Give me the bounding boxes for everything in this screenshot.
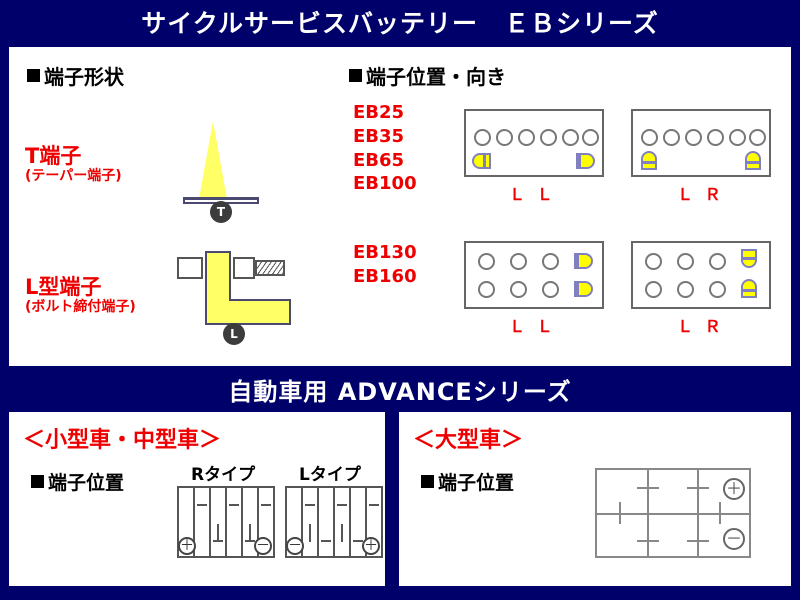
terminal-bar <box>576 253 579 269</box>
cell-tick <box>337 504 347 506</box>
terminal-shape-heading: 端子形状 <box>27 61 124 90</box>
cell-cap <box>542 253 559 270</box>
terminal-shape-column: 端子形状 T端子 (テーパー端子) T <box>9 47 339 366</box>
cell-tick <box>197 504 207 506</box>
l-type-label: Lタイプ <box>299 460 361 485</box>
large-car-heading-text: 端子位置 <box>438 468 514 495</box>
cell-cap <box>685 129 702 146</box>
bullet-square-icon <box>27 69 40 82</box>
t-terminal-text: T端子 (テーパー端子) <box>25 144 175 185</box>
model-label: EB65 <box>353 149 417 173</box>
battery-diagram-large-car: ＋ － <box>595 468 751 558</box>
terminal-negative: － <box>723 528 745 550</box>
cell-tick <box>229 504 239 506</box>
cell-cap <box>582 129 599 146</box>
small-mid-car-panel: ＜小型車・中型車＞ 端子位置 Rタイプ ＋ － <box>6 409 388 589</box>
terminal-positive: ＋ <box>178 537 196 555</box>
t-terminal-row: T端子 (テーパー端子) T <box>25 109 285 219</box>
cell-cap <box>709 253 726 270</box>
terminal-bar <box>641 161 657 164</box>
small-mid-car-title: ＜小型車・中型車＞ <box>23 422 221 454</box>
cell-tick <box>321 540 331 542</box>
t-terminal-badge: T <box>210 201 232 223</box>
poster-root: サイクルサービスバッテリー ＥＢシリーズ 端子形状 T端子 (テーパー端子) <box>0 0 800 600</box>
cell-cap <box>496 129 513 146</box>
terminal-bar <box>741 289 757 292</box>
cell-cap <box>663 129 680 146</box>
cell-cap <box>510 253 527 270</box>
terminal-bar <box>576 281 579 297</box>
battery-diagram-eb130-ll <box>464 241 604 309</box>
cell-cap <box>510 281 527 298</box>
diagram-label-lr: Ｌ Ｒ <box>677 313 724 337</box>
cell-tick <box>687 487 709 489</box>
terminal-bar <box>741 257 757 260</box>
cell-tick <box>309 524 311 542</box>
t-terminal-title: T端子 <box>25 144 175 168</box>
cell-cap <box>645 281 662 298</box>
battery-diagram-eb25-ll <box>464 109 604 177</box>
terminal-position-heading-text: 端子位置・向き <box>366 61 506 90</box>
advance-title: 自動車用 ADVANCEシリーズ <box>228 372 571 407</box>
cell-cap <box>677 281 694 298</box>
cell-divider <box>349 488 351 556</box>
l-terminal-subtitle: (ボルト締付端子) <box>25 299 175 316</box>
battery-diagram-eb25-lr <box>631 109 771 177</box>
terminal-position-column: 端子位置・向き EB25 EB35 EB65 EB100 <box>339 47 791 366</box>
cell-cap <box>562 129 579 146</box>
r-type-label: Rタイプ <box>191 460 255 485</box>
battery-diagram-eb130-lr <box>631 241 771 309</box>
cell-cap <box>540 129 557 146</box>
cell-cap <box>474 129 491 146</box>
terminal-left-facing <box>472 153 491 169</box>
model-label: EB25 <box>353 101 417 125</box>
t-terminal-subtitle: (テーパー端子) <box>25 168 175 185</box>
l-terminal-illustration: L <box>175 243 295 348</box>
cell-tick <box>305 504 315 506</box>
cell-tick <box>369 504 379 506</box>
terminal-negative: － <box>286 537 304 555</box>
advance-panels-row: ＜小型車・中型車＞ 端子位置 Rタイプ ＋ － <box>6 409 794 589</box>
cell-cap <box>749 129 766 146</box>
cell-tick <box>637 487 659 489</box>
cell-cap <box>707 129 724 146</box>
terminal-positive: ＋ <box>723 478 745 500</box>
cell-cap <box>729 129 746 146</box>
terminal-bar <box>578 153 581 169</box>
cell-cap <box>677 253 694 270</box>
cell-tick <box>249 524 251 542</box>
diagram-label-ll: Ｌ Ｌ <box>509 313 556 337</box>
terminal-position-heading: 端子位置・向き <box>349 61 506 90</box>
eb-series-panel: 端子形状 T端子 (テーパー端子) T <box>6 44 794 369</box>
page-title: サイクルサービスバッテリー ＥＢシリーズ <box>141 4 659 40</box>
model-label: EB160 <box>353 265 417 289</box>
cell-tick <box>687 540 709 542</box>
terminal-negative: － <box>254 537 272 555</box>
battery-diagram-l-type: － ＋ <box>285 486 383 558</box>
model-group-1-labels: EB25 EB35 EB65 EB100 <box>353 101 417 196</box>
small-mid-car-heading-text: 端子位置 <box>48 468 124 495</box>
terminal-shape-heading-text: 端子形状 <box>44 61 124 90</box>
bullet-square-icon <box>421 475 434 488</box>
cell-cap <box>641 129 658 146</box>
main-title-bar: サイクルサービスバッテリー ＥＢシリーズ <box>0 0 800 44</box>
cell-divider <box>317 488 319 556</box>
model-group-2-labels: EB130 EB160 <box>353 241 417 289</box>
model-label: EB35 <box>353 125 417 149</box>
cell-tick <box>261 504 271 506</box>
cell-tick <box>353 540 363 542</box>
cell-divider <box>225 488 227 556</box>
bullet-square-icon <box>349 69 362 82</box>
l-terminal-body <box>205 251 291 325</box>
small-mid-car-heading: 端子位置 <box>31 468 124 495</box>
cell-divider <box>209 488 211 556</box>
large-car-title: ＜大型車＞ <box>413 422 523 454</box>
cell-cap <box>518 129 535 146</box>
cell-cap <box>478 281 495 298</box>
terminal-bar <box>483 153 486 169</box>
advance-title-bar: 自動車用 ADVANCEシリーズ <box>0 369 800 409</box>
cell-cap <box>709 281 726 298</box>
cell-tick <box>719 502 721 524</box>
l-terminal-corner-join <box>207 301 231 323</box>
cell-tick <box>619 502 621 524</box>
diagram-label-ll: Ｌ Ｌ <box>509 181 556 205</box>
t-terminal-body <box>199 121 227 199</box>
cell-cap <box>542 281 559 298</box>
cell-divider <box>333 488 335 556</box>
bullet-square-icon <box>31 475 44 488</box>
cell-tick <box>217 524 219 542</box>
large-car-heading: 端子位置 <box>421 468 514 495</box>
model-label: EB130 <box>353 241 417 265</box>
l-terminal-badge: L <box>223 323 245 345</box>
cell-tick <box>637 540 659 542</box>
terminal-bar <box>745 161 761 164</box>
cell-cap <box>478 253 495 270</box>
bolt-nut-left-icon <box>177 257 203 279</box>
cell-divider <box>241 488 243 556</box>
model-label: EB100 <box>353 172 417 196</box>
battery-diagram-r-type: ＋ － <box>177 486 275 558</box>
l-terminal-title: L型端子 <box>25 275 175 299</box>
terminal-positive: ＋ <box>362 537 380 555</box>
t-terminal-illustration: T <box>175 109 285 219</box>
l-terminal-row: L型端子 (ボルト締付端子) L <box>25 243 295 348</box>
diagram-label-lr: Ｌ Ｒ <box>677 181 724 205</box>
cell-tick <box>341 524 343 542</box>
large-car-panel: ＜大型車＞ 端子位置 ＋ － <box>396 409 794 589</box>
cell-cap <box>645 253 662 270</box>
l-terminal-text: L型端子 (ボルト締付端子) <box>25 275 175 316</box>
